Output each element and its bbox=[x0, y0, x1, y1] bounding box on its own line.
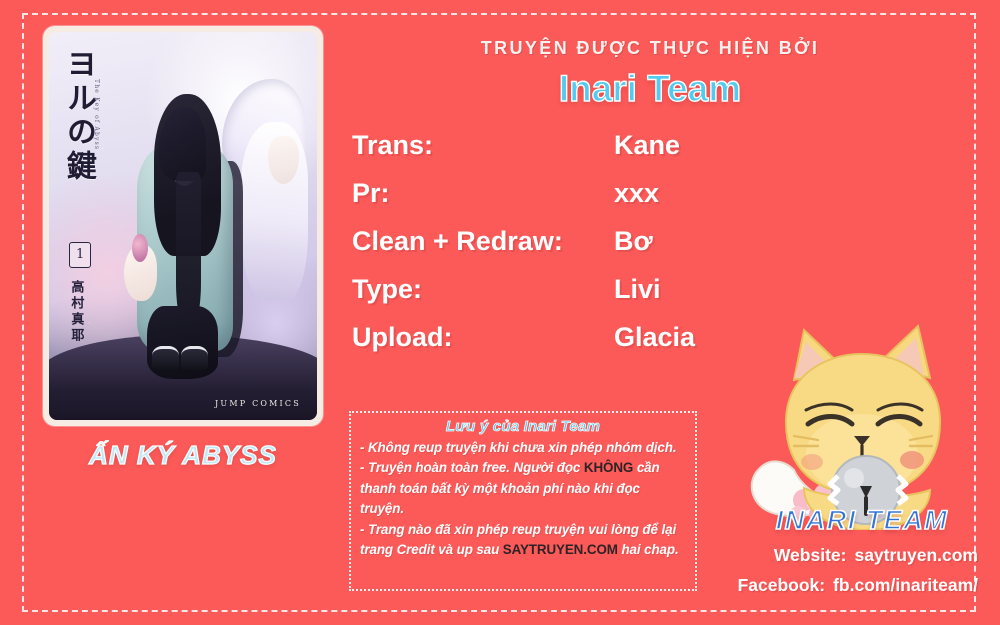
cover-gem-shape bbox=[132, 234, 148, 262]
note-line: truyện. bbox=[360, 499, 686, 519]
credits-list: Trans: Kane Pr: xxx Clean + Redraw: Bơ T… bbox=[352, 130, 772, 370]
contact-info: Website:saytruyen.com Facebook:fb.com/in… bbox=[700, 545, 978, 605]
note-line: trang Credit và up sau SAYTRUYEN.COM hai… bbox=[360, 540, 686, 560]
fox-blush-right bbox=[900, 451, 924, 469]
credit-role-label: Type: bbox=[352, 274, 614, 305]
manga-cover-art: ヨルの鍵 The Key of Abyss 1 高村真耶 JUMP COMICS bbox=[49, 32, 317, 420]
cover-publisher-label: JUMP COMICS bbox=[215, 399, 301, 408]
note-text: - Truyện hoàn toàn free. Người đọc bbox=[360, 460, 584, 475]
credit-row: Trans: Kane bbox=[352, 130, 772, 168]
note-text: cần bbox=[633, 460, 659, 475]
mascot-logo-text: INARI TEAM bbox=[742, 505, 982, 536]
cover-boot-right-shape bbox=[181, 346, 208, 371]
credit-role-label: Pr: bbox=[352, 178, 614, 209]
credit-row: Type: Livi bbox=[352, 274, 772, 312]
cover-boot-left-shape bbox=[152, 346, 179, 371]
note-emphasis-site: SAYTRUYEN.COM bbox=[503, 542, 618, 557]
credit-row: Upload: Glacia bbox=[352, 322, 772, 360]
cover-author-name: 高村真耶 bbox=[66, 280, 85, 344]
note-line: - Trang nào đã xin phép reup truyện vui … bbox=[360, 520, 686, 540]
credit-person-name: Livi bbox=[614, 274, 661, 305]
credit-page: ヨルの鍵 The Key of Abyss 1 高村真耶 JUMP COMICS… bbox=[0, 0, 1000, 625]
credit-role-label: Trans: bbox=[352, 130, 614, 161]
series-title-vietnamese: ẤN KÝ ABYSS bbox=[43, 440, 323, 471]
cover-boy-hairtail-shape bbox=[176, 172, 201, 328]
note-line: thanh toán bất kỳ một khoản phí nào khi … bbox=[360, 479, 686, 499]
fox-ball-highlight bbox=[844, 468, 864, 488]
note-line: - Truyện hoàn toàn free. Người đọc KHÔNG… bbox=[360, 458, 686, 478]
credit-person-name: Bơ bbox=[614, 226, 653, 257]
fox-blush-left bbox=[801, 454, 823, 470]
website-value[interactable]: saytruyen.com bbox=[854, 545, 978, 565]
credit-row: Clean + Redraw: Bơ bbox=[352, 226, 772, 264]
manga-cover-frame: ヨルの鍵 The Key of Abyss 1 高村真耶 JUMP COMICS bbox=[43, 26, 323, 426]
page-title: Inari Team bbox=[350, 68, 950, 110]
credit-person-name: Glacia bbox=[614, 322, 695, 353]
note-emphasis: KHÔNG bbox=[584, 460, 633, 475]
website-row[interactable]: Website:saytruyen.com bbox=[700, 545, 978, 566]
credit-role-label: Upload: bbox=[352, 322, 614, 353]
credit-person-name: Kane bbox=[614, 130, 680, 161]
facebook-label: Facebook: bbox=[738, 575, 826, 595]
cover-boy-bangs-shape bbox=[159, 108, 206, 181]
cover-japanese-subtitle: The Key of Abyss bbox=[93, 79, 100, 150]
facebook-row[interactable]: Facebook:fb.com/inariteam/ bbox=[700, 575, 978, 596]
note-text: hai chap. bbox=[618, 542, 679, 557]
page-subtitle: TRUYỆN ĐƯỢC THỰC HIỆN BỞI bbox=[350, 38, 950, 59]
credit-role-label: Clean + Redraw: bbox=[352, 226, 614, 257]
credit-row: Pr: xxx bbox=[352, 178, 772, 216]
note-line: - Không reup truyện khi chưa xin phép nh… bbox=[360, 438, 686, 458]
fox-mascot-icon bbox=[742, 318, 978, 530]
cover-japanese-title: ヨルの鍵 bbox=[62, 48, 94, 184]
facebook-value[interactable]: fb.com/inariteam/ bbox=[833, 575, 978, 595]
credit-person-name: xxx bbox=[614, 178, 659, 209]
notes-box: Lưu ý của Inari Team - Không reup truyện… bbox=[349, 411, 697, 591]
notes-title: Lưu ý của Inari Team bbox=[360, 418, 686, 435]
note-text: trang Credit và up sau bbox=[360, 542, 503, 557]
cover-boy-character bbox=[129, 94, 252, 373]
cover-volume-number: 1 bbox=[69, 242, 91, 268]
website-label: Website: bbox=[774, 545, 847, 565]
